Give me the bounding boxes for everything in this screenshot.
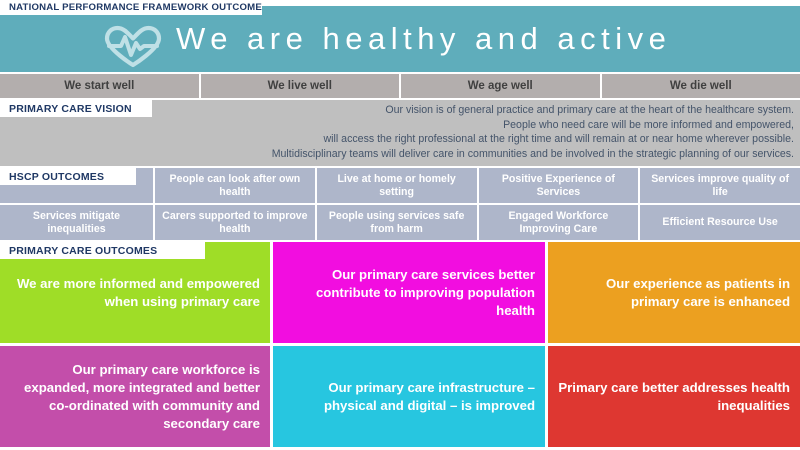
banner-title: We are healthy and active [176, 6, 671, 72]
stage-we-age-well[interactable]: We age well [401, 74, 600, 98]
banner-inner: We are healthy and active [0, 6, 800, 72]
hscp-cell-carers-supported[interactable]: Carers supported to improve health [155, 205, 315, 240]
stage-we-die-well[interactable]: We die well [602, 74, 800, 98]
chip-national-performance-framework: NATIONAL PERFORMANCE FRAMEWORK OUTCOME [0, 0, 262, 15]
hscp-cell-engaged-workforce[interactable]: Engaged Workforce Improving Care [479, 205, 639, 240]
pco-card-label: Our primary care infrastructure – physic… [283, 379, 535, 415]
pco-card-label: Primary care better addresses health ine… [558, 379, 790, 415]
pco-card-health-inequalities[interactable]: Primary care better addresses health ine… [548, 346, 800, 447]
primary-care-outcomes-section: We are more informed and empowered when … [0, 242, 800, 450]
hscp-cell-efficient-resource-use[interactable]: Efficient Resource Use [640, 205, 800, 240]
pco-card-workforce[interactable]: Our primary care workforce is expanded, … [0, 346, 270, 447]
pco-card-population-health[interactable]: Our primary care services better contrib… [273, 242, 545, 343]
stage-we-start-well[interactable]: We start well [0, 74, 199, 98]
chip-hscp-outcomes: HSCP OUTCOMES [0, 168, 136, 185]
hscp-cell-positive-experience[interactable]: Positive Experience of Services [479, 168, 639, 203]
pco-card-label: Our experience as patients in primary ca… [558, 275, 790, 311]
pco-card-label: We are more informed and empowered when … [10, 275, 260, 311]
primary-care-vision-text: Our vision is of general practice and pr… [148, 103, 794, 163]
heart-pulse-icon [100, 24, 166, 66]
life-stages-row: We start well We live well We age well W… [0, 74, 800, 98]
hscp-cell-quality-of-life[interactable]: Services improve quality of life [640, 168, 800, 203]
pco-card-infrastructure[interactable]: Our primary care infrastructure – physic… [273, 346, 545, 447]
stage-we-live-well[interactable]: We live well [201, 74, 400, 98]
chip-primary-care-vision: PRIMARY CARE VISION [0, 100, 152, 117]
hscp-outcomes-row-2: Services mitigate inequalities Carers su… [0, 205, 800, 240]
hscp-cell-live-at-home[interactable]: Live at home or homely setting [317, 168, 477, 203]
pco-card-patient-experience[interactable]: Our experience as patients in primary ca… [548, 242, 800, 343]
pco-card-label: Our primary care services better contrib… [283, 266, 535, 320]
chip-primary-care-outcomes: PRIMARY CARE OUTCOMES [0, 242, 205, 259]
primary-care-outcomes-row-2: Our primary care workforce is expanded, … [0, 346, 800, 447]
national-outcome-banner: We are healthy and active [0, 6, 800, 72]
infographic-root: We are healthy and active NATIONAL PERFO… [0, 0, 800, 450]
hscp-cell-services-mitigate-inequalities[interactable]: Services mitigate inequalities [0, 205, 153, 240]
pco-card-label: Our primary care workforce is expanded, … [10, 361, 260, 433]
hscp-cell-look-after-own-health[interactable]: People can look after own health [155, 168, 315, 203]
hscp-cell-safe-from-harm[interactable]: People using services safe from harm [317, 205, 477, 240]
